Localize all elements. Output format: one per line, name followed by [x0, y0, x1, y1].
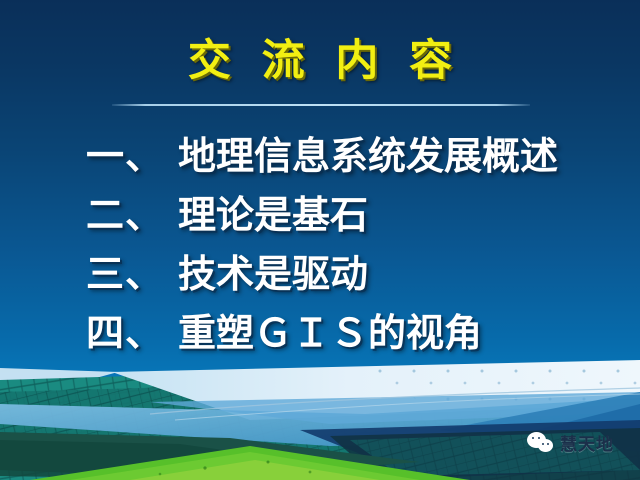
agenda-item-number: 三、 [86, 254, 164, 296]
agenda-item-number: 一、 [86, 136, 164, 178]
list-item: 二、理论是基石 [86, 187, 606, 246]
agenda-item-label: 理论是基石 [178, 195, 368, 237]
agenda-item-label: 技术是驱动 [178, 254, 368, 296]
agenda-item-number: 二、 [86, 195, 164, 237]
agenda-item-label: 地理信息系统发展概述 [178, 136, 558, 178]
agenda-list: 一、地理信息系统发展概述 二、理论是基石 三、技术是驱动 四、重塑ＧＩＳ的视角 [86, 128, 606, 364]
agenda-item-label: 重塑ＧＩＳ的视角 [178, 313, 482, 355]
list-item: 一、地理信息系统发展概述 [86, 128, 606, 187]
page-title: 交 流 内 容 [178, 38, 462, 86]
wechat-icon [527, 432, 554, 454]
list-item: 四、重塑ＧＩＳ的视角 [86, 305, 606, 364]
agenda-item-number: 四、 [86, 313, 164, 355]
slide-title-block: 交 流 内 容 [0, 38, 640, 86]
list-item: 三、技术是驱动 [86, 246, 606, 305]
title-divider [112, 104, 530, 106]
presentation-slide: 交 流 内 容 一、地理信息系统发展概述 二、理论是基石 三、技术是驱动 四、重… [0, 0, 640, 480]
watermark-label: 慧天地 [560, 430, 614, 455]
watermark: 慧天地 [527, 430, 614, 455]
